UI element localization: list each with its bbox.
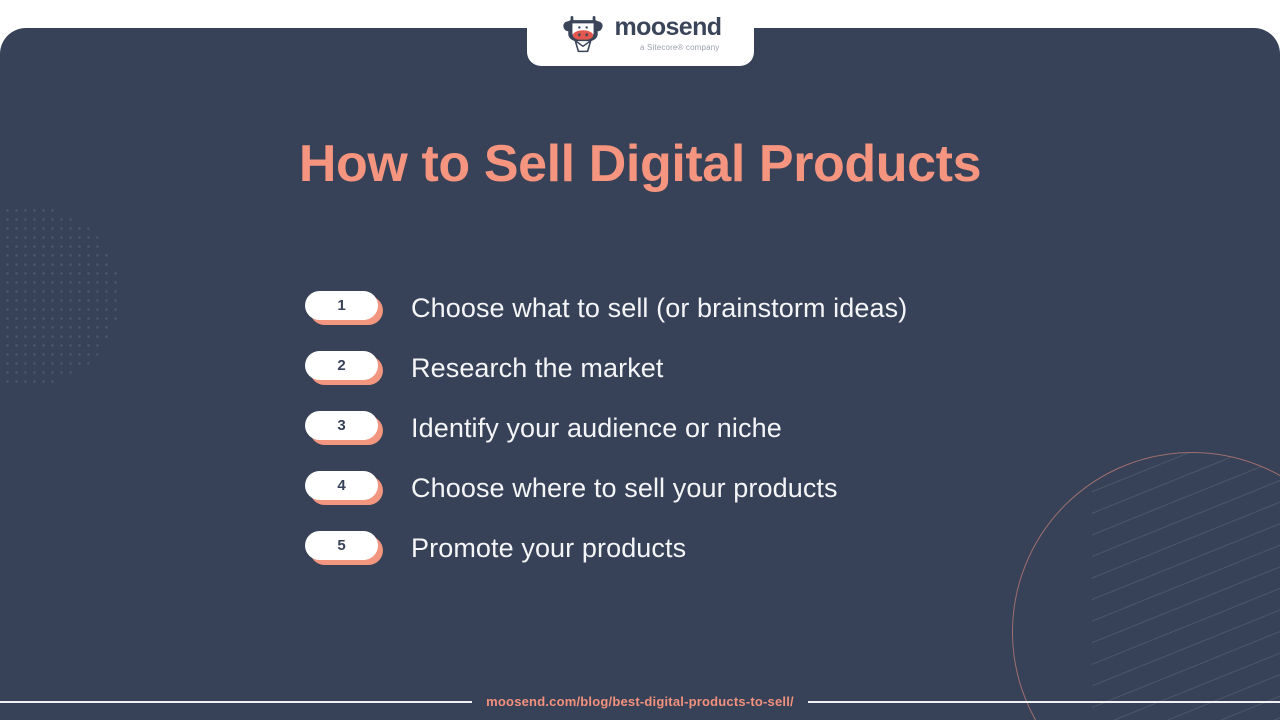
- step-number: 3: [305, 411, 378, 440]
- moosend-cow-icon: [560, 10, 606, 56]
- step-number: 2: [305, 351, 378, 380]
- step-number: 1: [305, 291, 378, 320]
- slide-card: How to Sell Digital Products 1 Choose wh…: [0, 28, 1280, 720]
- list-item: 1 Choose what to sell (or brainstorm ide…: [305, 291, 907, 325]
- footer: moosend.com/blog/best-digital-products-t…: [0, 694, 1280, 709]
- step-badge: 5: [305, 531, 383, 565]
- brand-wordmark: moosend: [615, 14, 722, 40]
- brand-tagline: a Sitecore® company: [640, 43, 721, 52]
- step-label: Research the market: [411, 353, 664, 384]
- steps-list: 1 Choose what to sell (or brainstorm ide…: [305, 291, 907, 565]
- list-item: 3 Identify your audience or niche: [305, 411, 907, 445]
- brand-logo-panel[interactable]: moosend a Sitecore® company: [527, 0, 754, 66]
- step-badge: 4: [305, 471, 383, 505]
- step-label: Promote your products: [411, 533, 686, 564]
- step-label: Identify your audience or niche: [411, 413, 782, 444]
- step-label: Choose what to sell (or brainstorm ideas…: [411, 293, 907, 324]
- step-badge: 3: [305, 411, 383, 445]
- page-title: How to Sell Digital Products: [0, 134, 1280, 194]
- step-number: 4: [305, 471, 378, 500]
- step-number: 5: [305, 531, 378, 560]
- footer-rule-left: [0, 701, 472, 703]
- list-item: 2 Research the market: [305, 351, 907, 385]
- brand-logo-text: moosend a Sitecore® company: [615, 14, 722, 51]
- list-item: 4 Choose where to sell your products: [305, 471, 907, 505]
- step-badge: 1: [305, 291, 383, 325]
- list-item: 5 Promote your products: [305, 531, 907, 565]
- hatched-circle-decoration: [1012, 452, 1280, 720]
- footer-url[interactable]: moosend.com/blog/best-digital-products-t…: [486, 694, 794, 709]
- step-label: Choose where to sell your products: [411, 473, 838, 504]
- dotted-circle-decoration: [0, 206, 120, 386]
- step-badge: 2: [305, 351, 383, 385]
- footer-rule-right: [808, 701, 1280, 703]
- slide-canvas: How to Sell Digital Products 1 Choose wh…: [0, 0, 1280, 720]
